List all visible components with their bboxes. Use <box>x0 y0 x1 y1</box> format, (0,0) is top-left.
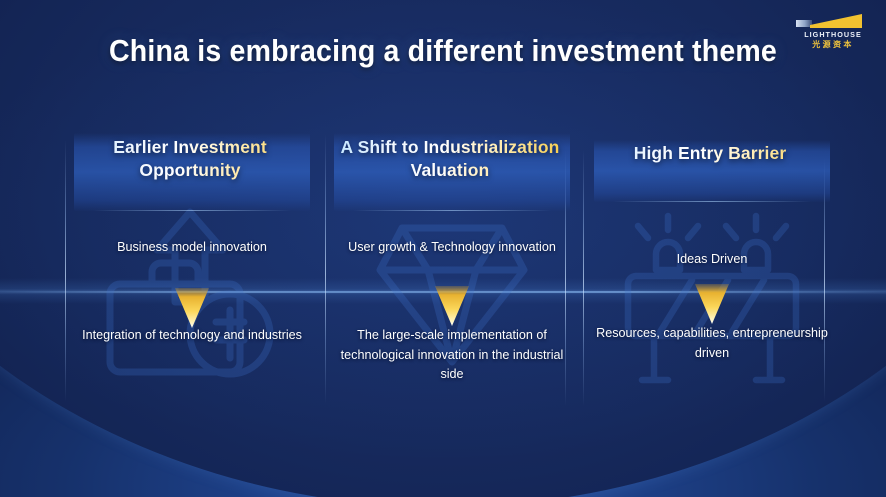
column-from-text: Business model innovation <box>72 238 312 258</box>
column-header-title: High Entry Barrier <box>592 142 828 165</box>
column-to-text: Integration of technology and industries <box>72 326 312 346</box>
divider-line-2 <box>325 134 326 404</box>
down-arrow-icon <box>692 282 732 326</box>
logo-name-text: LIGHTHOUSE <box>796 30 870 39</box>
column-from-text: Ideas Driven <box>592 250 832 270</box>
column-header-title: A Shift to Industrialization Valuation <box>332 136 568 182</box>
divider-line-1 <box>65 140 66 402</box>
header-line-1: Earlier Investment <box>113 137 267 157</box>
down-arrow-icon <box>172 286 212 330</box>
header-line-1: A Shift to Industrialization <box>341 137 560 157</box>
slide-canvas: China is embracing a different investmen… <box>0 0 886 497</box>
column-header-title: Earlier Investment Opportunity <box>72 136 308 182</box>
column-earlier-investment-opportunity: Earlier Investment Opportunity Business … <box>72 118 312 418</box>
lighthouse-beam-icon <box>810 14 862 29</box>
divider-line-4 <box>583 150 584 406</box>
column-to-text: Resources, capabilities, entrepreneurshi… <box>592 324 832 363</box>
column-high-entry-barrier: High Entry Barrier Ideas Driven Resource… <box>592 118 832 418</box>
header-line-1: High Entry Barrier <box>634 143 787 163</box>
company-logo: LIGHTHOUSE 光源资本 <box>796 13 870 49</box>
header-line-2: Valuation <box>411 160 490 180</box>
header-line-2: Opportunity <box>139 160 240 180</box>
column-to-text: The large-scale implementation of techno… <box>332 326 572 385</box>
slide-title: China is embracing a different investmen… <box>35 33 850 69</box>
down-arrow-icon <box>432 284 472 328</box>
column-from-text: User growth & Technology innovation <box>332 238 572 258</box>
column-shift-to-industrialization-valuation: A Shift to Industrialization Valuation U… <box>332 118 572 418</box>
logo-chinese-text: 光源资本 <box>796 39 870 50</box>
